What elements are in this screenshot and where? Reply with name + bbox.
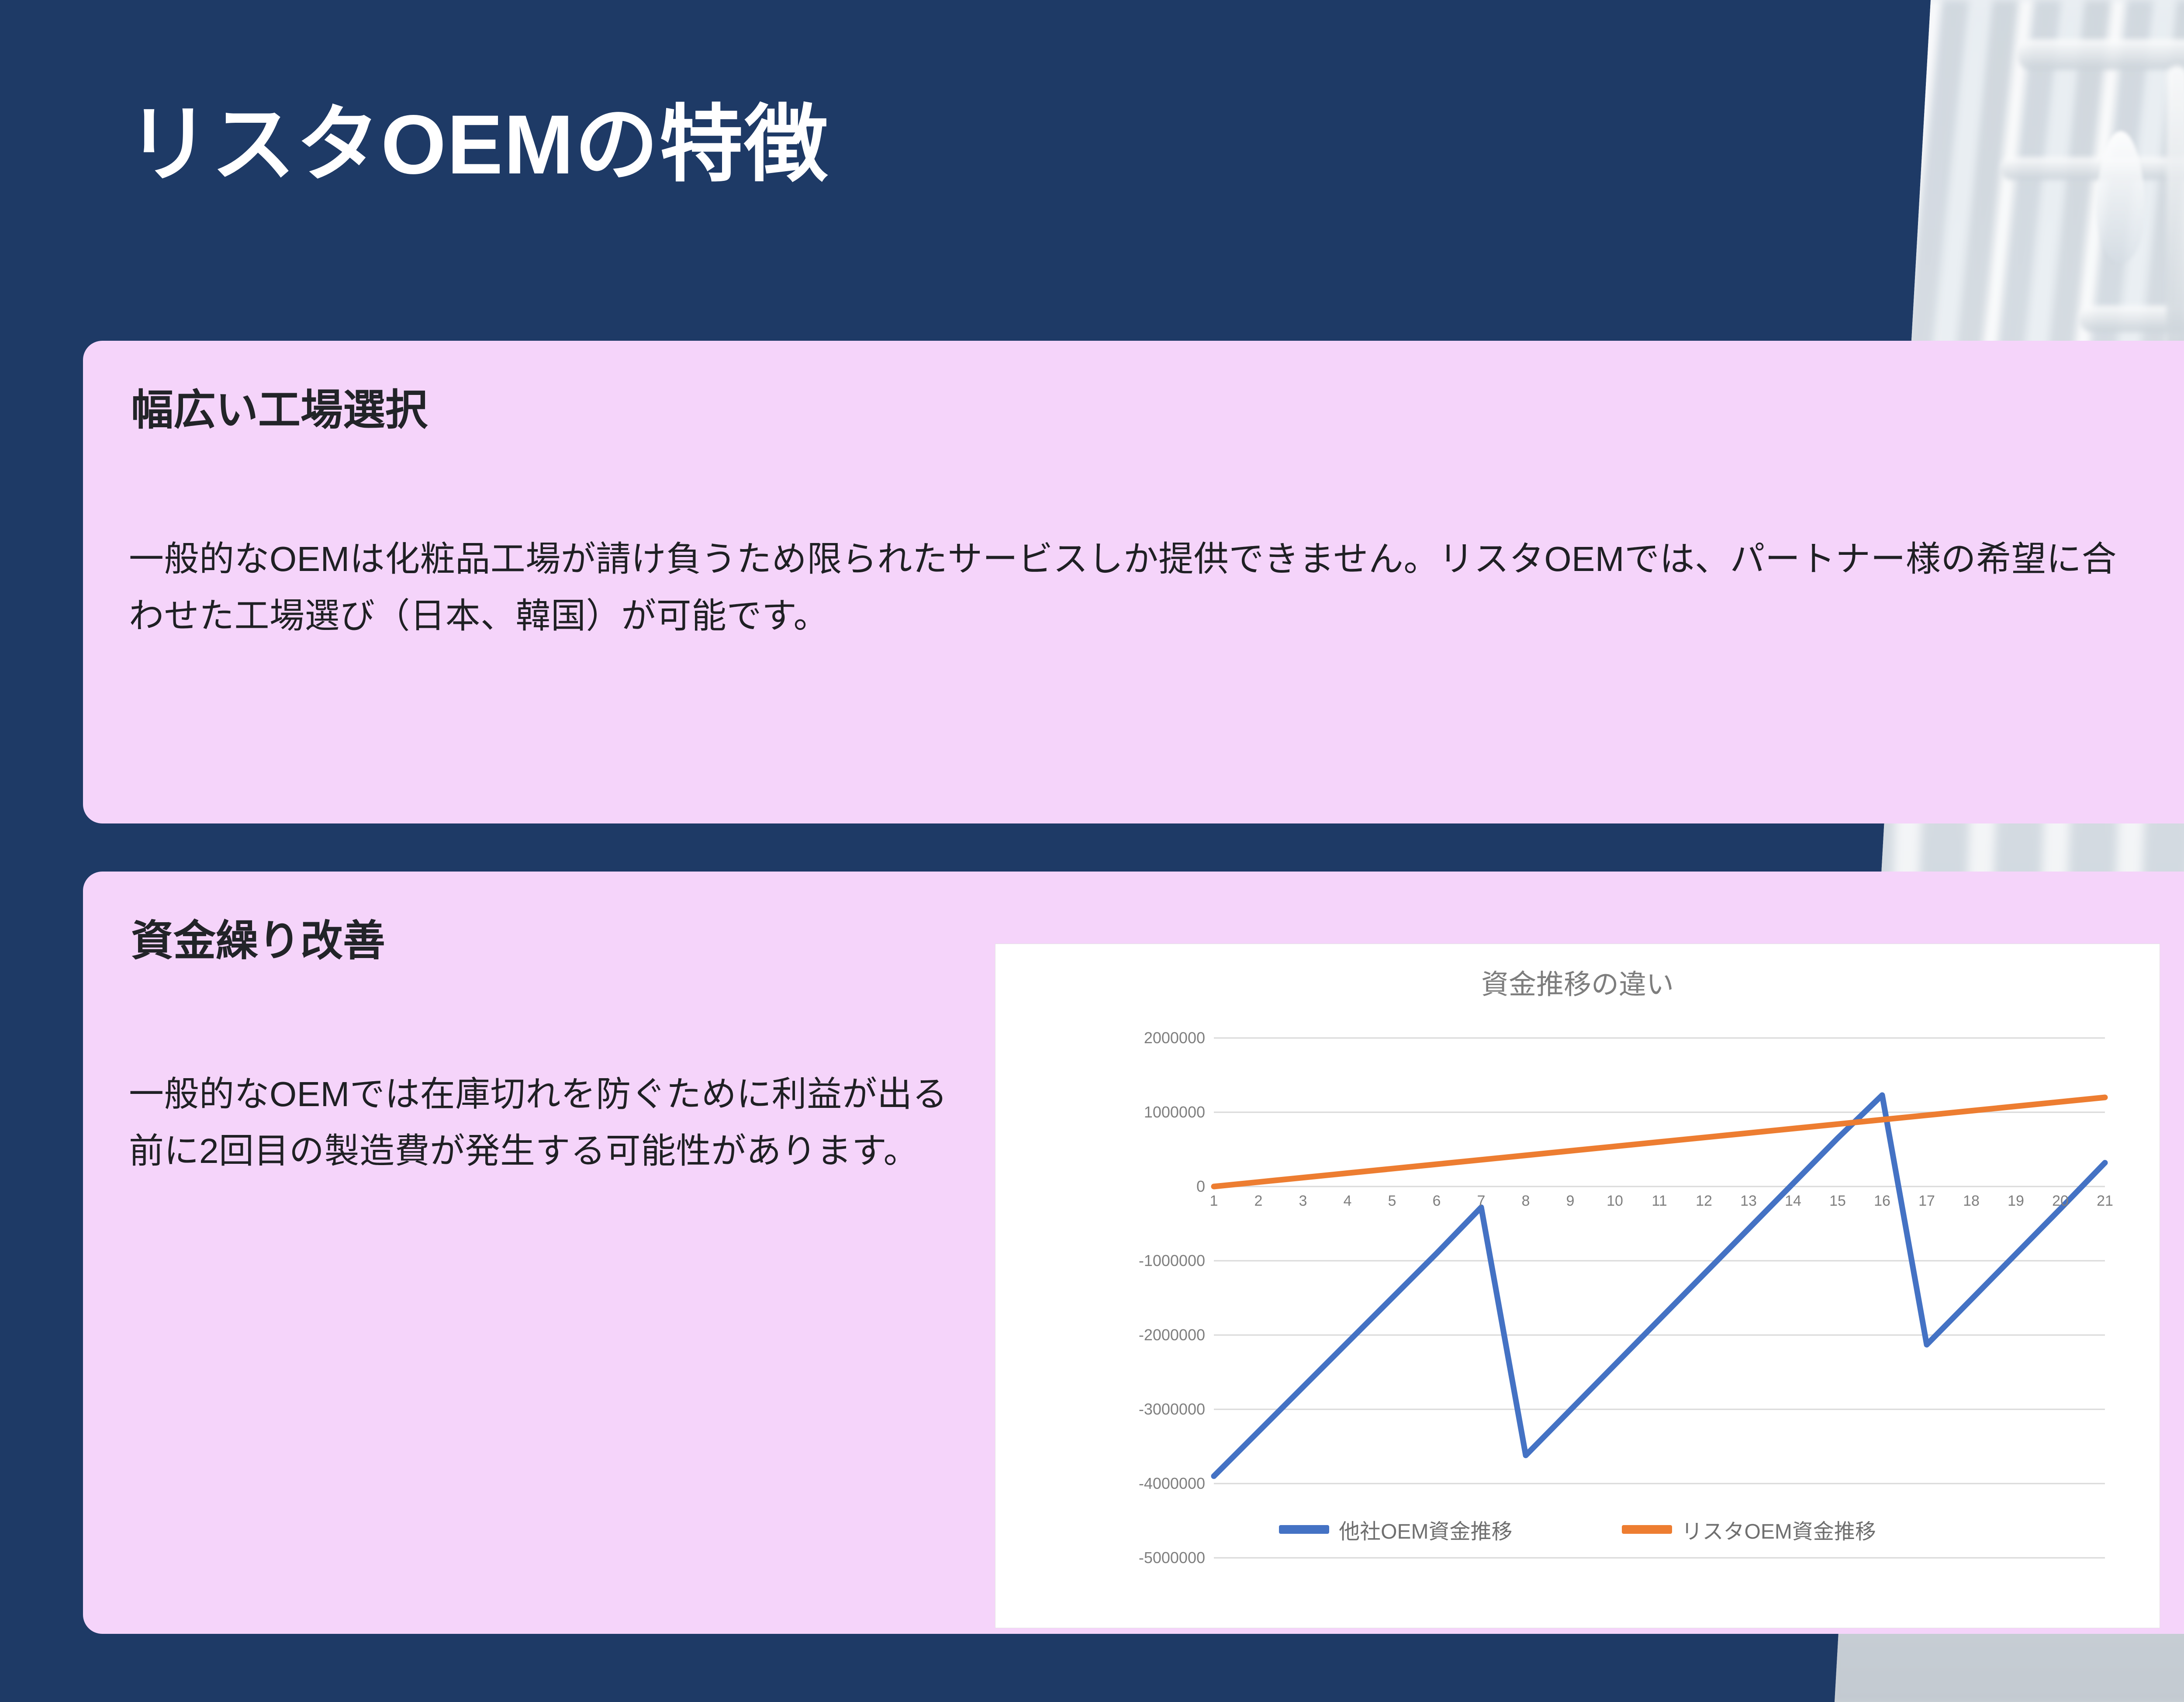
card-1-body: 一般的なOEMは化粧品工場が請け負うため限られたサービスしか提供できません。リス… — [129, 531, 2151, 644]
x-axis-tick-label: 20 — [2052, 1193, 2069, 1210]
card-1-title: 幅広い工場選択 — [131, 389, 428, 431]
legend-item[interactable]: リスタOEM資金推移 — [1622, 1514, 1876, 1545]
x-axis-tick-label: 8 — [1522, 1193, 1530, 1210]
ceiling-beam — [2001, 157, 2184, 180]
x-axis-tick-label: 21 — [2097, 1193, 2113, 1210]
x-axis-tick-label: 18 — [1963, 1193, 1980, 1210]
legend-item[interactable]: 他社OEM資金推移 — [1279, 1514, 1512, 1545]
x-axis-tick-label: 7 — [1477, 1193, 1486, 1210]
x-axis-tick-label: 6 — [1433, 1193, 1441, 1210]
x-axis-tick-label: 17 — [1918, 1193, 1935, 1210]
card-2-title: 資金繰り改善 — [131, 920, 385, 962]
x-axis-tick-label: 16 — [1874, 1193, 1890, 1210]
legend-color-swatch — [1622, 1525, 1672, 1534]
x-axis-tick-label: 13 — [1740, 1193, 1757, 1210]
x-axis-tick-label: 9 — [1566, 1193, 1575, 1210]
chart-legend: 他社OEM資金推移リスタOEM資金推移 — [995, 1514, 2160, 1545]
x-axis-tick-label: 11 — [1652, 1193, 1667, 1210]
x-axis-tick-label: 10 — [1607, 1193, 1623, 1210]
legend-label: リスタOEM資金推移 — [1682, 1514, 1876, 1545]
x-axis-tick-label: 15 — [1829, 1193, 1846, 1210]
x-axis-tick-label: 3 — [1299, 1193, 1307, 1210]
x-axis-tick-label: 19 — [2008, 1193, 2024, 1210]
legend-color-swatch — [1279, 1525, 1329, 1534]
card-2-body: 一般的なOEMでは在庫切れを防ぐために利益が出る前に2回目の製造費が発生する可能… — [129, 1066, 954, 1179]
page-title: リスタOEMの特徴 — [127, 103, 829, 187]
x-axis-tick-label: 1 — [1210, 1193, 1218, 1210]
x-axis-tick-label: 4 — [1344, 1193, 1352, 1210]
cashflow-chart: 資金推移の違い 200000010000000-1000000-2000000-… — [995, 944, 2160, 1628]
x-axis-tick-label: 2 — [1254, 1193, 1263, 1210]
ceiling-pipe — [2167, 66, 2184, 363]
legend-label: 他社OEM資金推移 — [1339, 1514, 1512, 1545]
ceiling-beam — [2018, 39, 2184, 70]
x-axis-tick-label: 14 — [1785, 1193, 1801, 1210]
x-axis-tick-label: 5 — [1388, 1193, 1396, 1210]
x-axis-tick-label: 12 — [1696, 1193, 1712, 1210]
